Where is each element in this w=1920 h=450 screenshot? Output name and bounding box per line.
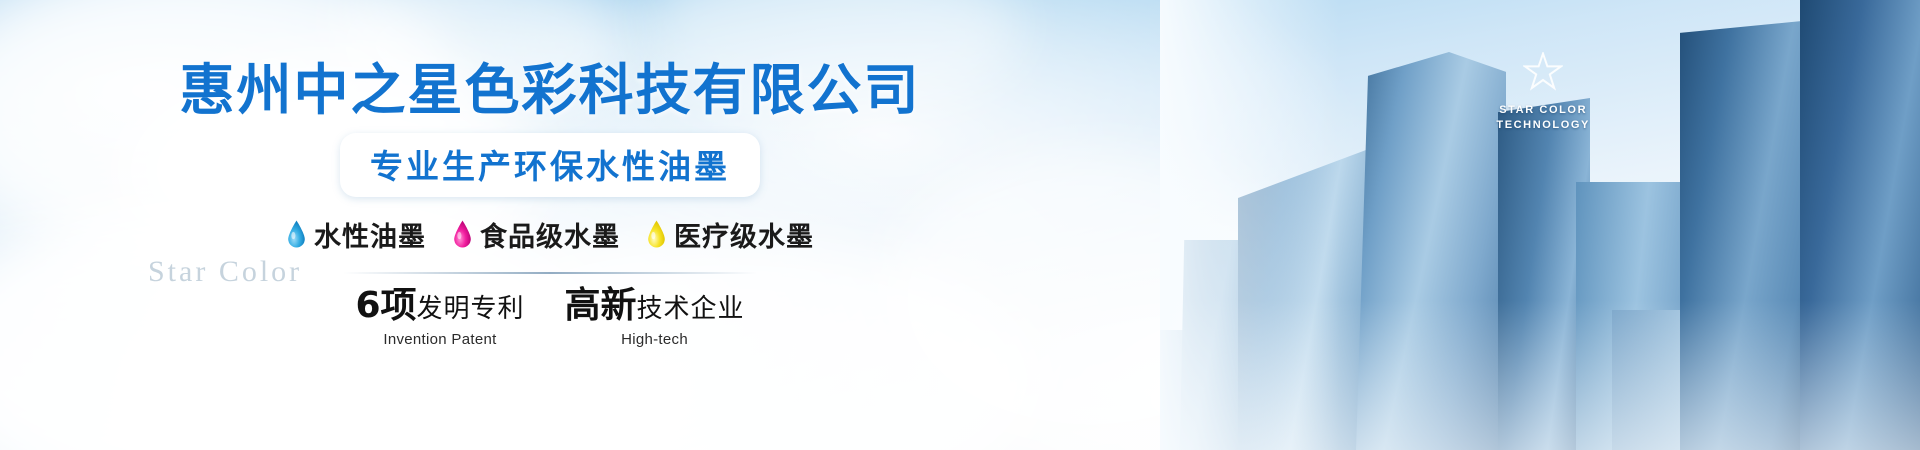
- credential-rest: 发明专利: [417, 294, 525, 324]
- credential-highlight: 高新: [565, 285, 637, 326]
- feature-item: 医疗级水墨: [646, 215, 814, 254]
- building-shape: [1238, 150, 1366, 450]
- company-title: 惠州中之星色彩科技有限公司: [0, 60, 1100, 121]
- credential-english: Invention Patent: [355, 331, 524, 348]
- subtitle-container: 专业生产环保水性油墨: [0, 133, 1100, 197]
- credential-rest: 技术企业: [637, 294, 745, 324]
- droplet-icon: [646, 220, 667, 249]
- brand-logo: STAR COLOR TECHNOLOGY: [1496, 52, 1590, 133]
- building-shape: [1800, 0, 1920, 450]
- credentials-list: 6项发明专利 Invention Patent 高新技术企业 High-tech: [0, 288, 1100, 348]
- subtitle-pill: 专业生产环保水性油墨: [340, 133, 760, 197]
- feature-list: 水性油墨 食品级水墨: [0, 215, 1100, 254]
- credential-chinese: 6项发明专利: [355, 288, 524, 324]
- section-divider: [343, 272, 757, 274]
- credential-english: High-tech: [565, 331, 745, 348]
- credential-item: 6项发明专利 Invention Patent: [355, 288, 524, 348]
- banner-content: 惠州中之星色彩科技有限公司 专业生产环保水性油墨 水性油: [0, 0, 1100, 450]
- feature-item: 食品级水墨: [452, 215, 620, 254]
- feature-label: 水性油墨: [314, 215, 426, 254]
- promo-banner: Star Color STAR COLOR TECHNOLOGY 惠州中之星色彩…: [0, 0, 1920, 450]
- credential-item: 高新技术企业 High-tech: [565, 288, 745, 348]
- credential-chinese: 高新技术企业: [565, 288, 745, 324]
- building-shape: [1680, 20, 1812, 450]
- building-shape: [1356, 52, 1506, 450]
- feature-label: 食品级水墨: [480, 215, 620, 254]
- droplet-icon: [286, 220, 307, 249]
- feature-label: 医疗级水墨: [674, 215, 814, 254]
- credential-highlight: 6项: [355, 285, 416, 326]
- brand-logo-line-2: TECHNOLOGY: [1496, 118, 1590, 133]
- droplet-icon: [452, 220, 473, 249]
- feature-item: 水性油墨: [286, 215, 426, 254]
- star-icon: [1523, 52, 1563, 92]
- brand-logo-line-1: STAR COLOR: [1496, 103, 1590, 118]
